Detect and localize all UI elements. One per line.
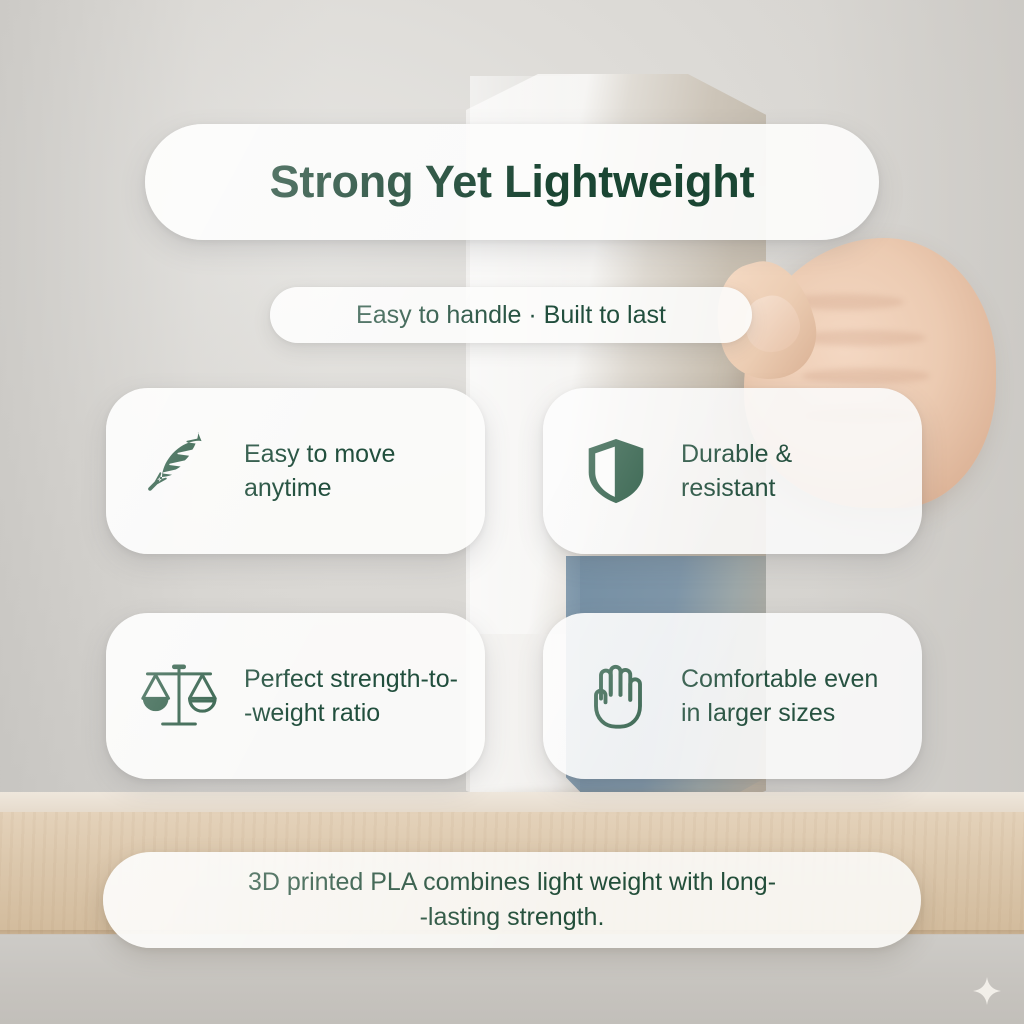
knuckle-crease [802,368,930,384]
feature-label-line1: Comfortable even [681,665,878,693]
footer-text-line2: -lasting strength. [420,903,605,931]
feature-label: Easy to moveanytime [244,437,395,506]
title-pill: Strong Yet Lightweight [145,124,879,240]
feature-label-line1: Perfect strength-to- [244,665,458,693]
footer-pill: 3D printed PLA combines light weight wit… [103,852,921,948]
feature-card-durable[interactable]: Durable &resistant [543,388,922,554]
feature-label-line2: anytime [244,474,332,502]
feature-card-easy-to-move[interactable]: Easy to moveanytime [106,388,485,554]
feature-label-line2: in larger sizes [681,699,835,727]
feature-label: Comfortable evenin larger sizes [681,662,878,731]
balance-scale-icon [136,653,222,739]
footer-text-line1: 3D printed PLA combines light weight wit… [248,868,776,896]
feather-icon [136,428,222,514]
sparkle-icon [972,976,1002,1006]
feature-label-line2: -weight ratio [244,699,380,727]
feature-label-line2: resistant [681,474,775,502]
feature-card-comfortable[interactable]: Comfortable evenin larger sizes [543,613,922,779]
subtitle-pill: Easy to handle · Built to last [270,287,752,343]
open-hand-icon [573,653,659,739]
feature-label-line1: Easy to move [244,440,395,468]
footer-text: 3D printed PLA combines light weight wit… [190,865,834,936]
feature-card-strength-to-weight[interactable]: Perfect strength-to--weight ratio [106,613,485,779]
shelf-surface [0,792,1024,814]
page-title: Strong Yet Lightweight [270,156,755,208]
feature-label: Durable &resistant [681,437,792,506]
feature-label-line1: Durable & [681,440,792,468]
promo-graphic: Strong Yet Lightweight Easy to handle · … [0,0,1024,1024]
page-subtitle: Easy to handle · Built to last [356,301,666,330]
shield-icon [573,428,659,514]
feature-label: Perfect strength-to--weight ratio [244,662,458,731]
floor-background [0,935,1024,1024]
